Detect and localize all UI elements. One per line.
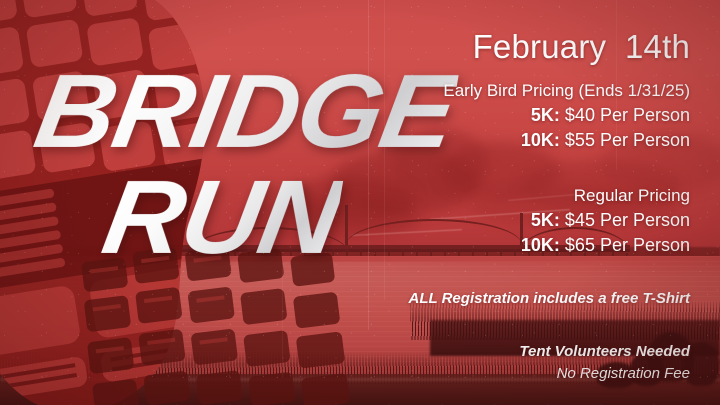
early-bird-pricing-block: Early Bird Pricing (Ends 1/31/25) 5K: $4… xyxy=(270,79,690,154)
regular-price-5k: 5K: $45 Per Person xyxy=(270,208,690,233)
volunteers-note: Tent Volunteers Needed xyxy=(270,341,690,364)
early-bird-header: Early Bird Pricing (Ends 1/31/25) xyxy=(270,79,690,103)
regular-10k-distance: 10K: xyxy=(521,235,560,255)
regular-5k-amount: $45 Per Person xyxy=(560,210,690,230)
regular-10k-amount: $65 Per Person xyxy=(560,235,690,255)
early-bird-5k-distance: 5K: xyxy=(531,105,560,125)
regular-price-10k: 10K: $65 Per Person xyxy=(270,233,690,258)
event-details-panel: February 14th Early Bird Pricing (Ends 1… xyxy=(270,30,690,386)
spacer xyxy=(270,154,690,184)
early-bird-10k-distance: 10K: xyxy=(521,130,560,150)
early-bird-10k-amount: $55 Per Person xyxy=(560,130,690,150)
early-bird-price-10k: 10K: $55 Per Person xyxy=(270,128,690,153)
regular-pricing-header: Regular Pricing xyxy=(270,184,690,208)
registration-fee-note: No Registration Fee xyxy=(270,363,690,386)
poster-canvas: BRIDGE RUN February 14th Early Bird Pric… xyxy=(0,0,720,405)
event-date: February 14th xyxy=(270,30,690,63)
regular-5k-distance: 5K: xyxy=(531,210,560,230)
regular-pricing-block: Regular Pricing 5K: $45 Per Person 10K: … xyxy=(270,184,690,259)
tshirt-note: ALL Registration includes a free T-Shirt xyxy=(270,288,690,311)
early-bird-price-5k: 5K: $40 Per Person xyxy=(270,103,690,128)
early-bird-5k-amount: $40 Per Person xyxy=(560,105,690,125)
